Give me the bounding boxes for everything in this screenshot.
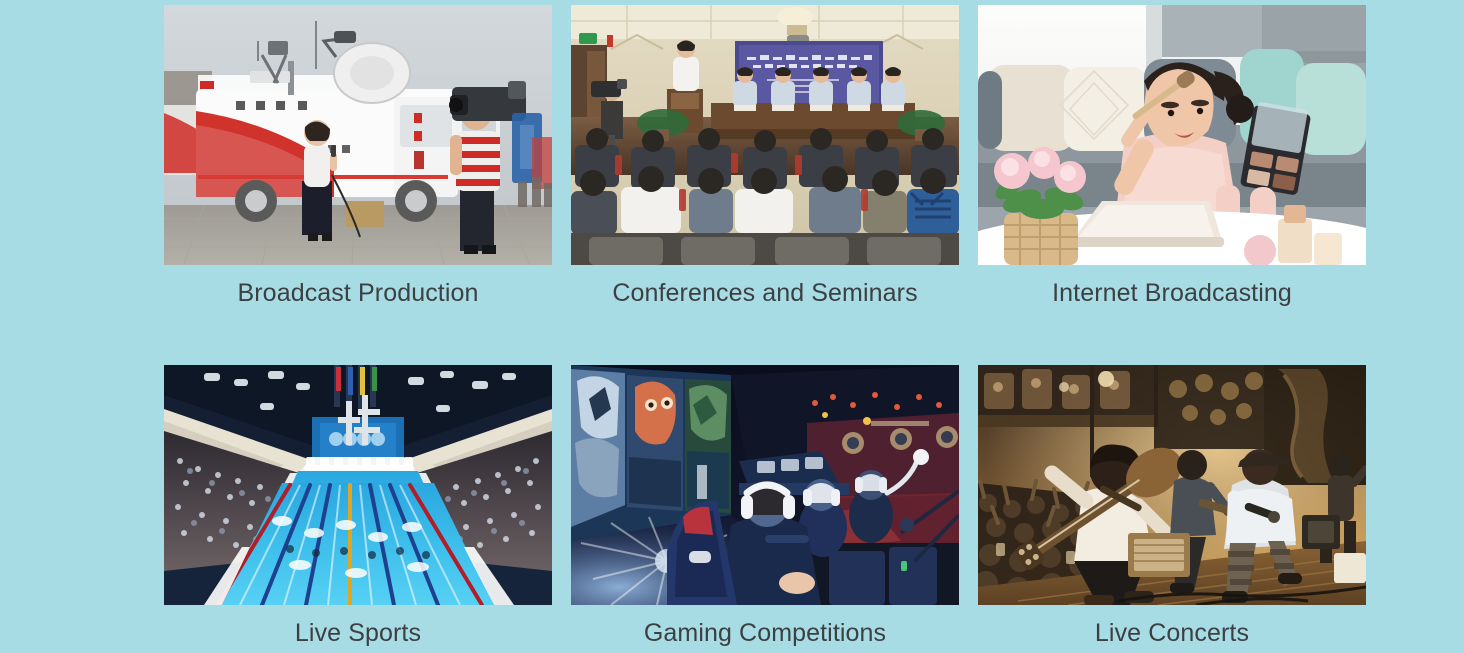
live-sports-illustration (164, 365, 552, 605)
flower-pot (992, 147, 1086, 265)
scenario-tile-broadcast-production[interactable]: Broadcast Production (164, 5, 552, 313)
internet-broadcasting-photo[interactable] (978, 5, 1366, 265)
live-concerts-photo[interactable] (978, 365, 1366, 605)
tile-caption: Broadcast Production (237, 273, 478, 313)
broadcast-production-illustration (164, 5, 552, 265)
scenario-tile-live-sports[interactable]: Live Sports (164, 365, 552, 653)
tile-caption: Live Sports (295, 613, 421, 653)
venue-balcony (978, 365, 1158, 427)
scenario-grid: Broadcast Production (164, 5, 1366, 653)
tile-caption: Live Concerts (1095, 613, 1249, 653)
gaming-competitions-illustration (571, 365, 959, 605)
tile-caption: Conferences and Seminars (612, 273, 917, 313)
scenario-tile-live-concerts[interactable]: Live Concerts (978, 365, 1366, 653)
internet-broadcasting-illustration (978, 5, 1366, 265)
conferences-and-seminars-photo[interactable] (571, 5, 959, 265)
gaming-competitions-photo[interactable] (571, 365, 959, 605)
broadcast-production-photo[interactable] (164, 5, 552, 265)
scenario-tile-gaming-competitions[interactable]: Gaming Competitions (571, 365, 959, 653)
tile-caption: Internet Broadcasting (1052, 273, 1292, 313)
live-sports-photo[interactable] (164, 365, 552, 605)
tile-caption: Gaming Competitions (644, 613, 886, 653)
scenarios-page: Broadcast Production (0, 0, 1464, 600)
conferences-and-seminars-illustration (571, 5, 959, 265)
live-concerts-illustration (978, 365, 1366, 605)
scenario-tile-conferences-and-seminars[interactable]: Conferences and Seminars (571, 5, 959, 313)
scenario-tile-internet-broadcasting[interactable]: Internet Broadcasting (978, 5, 1366, 313)
